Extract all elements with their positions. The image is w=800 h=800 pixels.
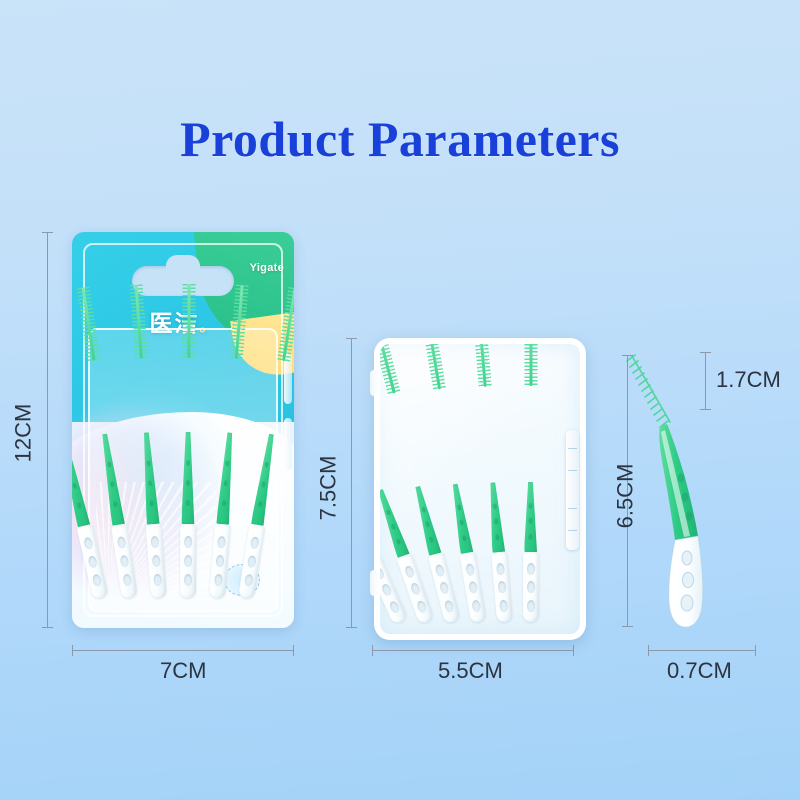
brush-handle-hole	[468, 581, 478, 594]
brush-handle-hole	[439, 582, 450, 596]
blister-height-line	[47, 232, 48, 628]
brush-white-handle	[459, 552, 486, 624]
brush-bristle-tip	[134, 285, 142, 359]
brush-body-hole	[429, 536, 434, 543]
storage-case-image	[374, 338, 586, 640]
interdental-brush	[524, 386, 537, 622]
brush-handle-hole	[83, 537, 93, 550]
brush-bristle-tip	[475, 338, 486, 387]
brush-handle-hole	[471, 599, 481, 612]
brush-tip-line	[705, 352, 706, 410]
single-brush-handle-hole-3	[681, 595, 693, 611]
brush-handle-hole	[122, 574, 132, 587]
brush-body-hole	[264, 461, 269, 468]
brush-handle-hole	[87, 555, 97, 568]
single-brush-handle-hole-2	[682, 572, 693, 587]
blister-height-label: 12CM	[10, 404, 36, 463]
case-height-line	[351, 338, 352, 628]
single-brush-body-hole-3	[686, 511, 693, 521]
brush-handle-hole	[213, 574, 222, 587]
blister-width-label: 7CM	[160, 658, 206, 684]
page-title: Product Parameters	[0, 110, 800, 168]
brush-body-hole	[462, 535, 467, 542]
brush-handle-hole	[499, 599, 508, 612]
brush-body-hole	[261, 481, 266, 488]
brand-label-yigate: Yigate	[250, 262, 284, 274]
brush-body-hole	[421, 506, 426, 513]
brush-body-hole	[396, 538, 402, 545]
brush-white-handle	[491, 552, 513, 623]
brush-body-hole	[493, 503, 497, 509]
single-brush-body-hole-2	[682, 492, 689, 502]
brush-body-hole	[224, 480, 228, 486]
brush-handle-hole	[116, 536, 126, 549]
brush-body-hole	[529, 534, 533, 540]
case-width-label: 5.5CM	[438, 658, 503, 684]
brush-handle-hole	[527, 581, 535, 593]
brush-body-hole	[149, 500, 153, 506]
brush-bristle-tip	[529, 338, 532, 386]
brush-body-hole	[77, 502, 82, 509]
single-brush-bristle-tip	[627, 355, 670, 427]
brush-body-hole	[494, 519, 498, 525]
brush-handle-hole	[217, 536, 226, 549]
brush-body-hole	[113, 501, 118, 508]
brush-body-hole	[107, 461, 112, 468]
brush-body-hole	[146, 460, 150, 466]
brush-handle-hole	[380, 583, 392, 597]
brush-handle-hole	[151, 555, 160, 568]
brush-body-hole	[222, 500, 226, 506]
brush-handle-hole	[443, 599, 454, 613]
single-brush-handle-hole-1	[682, 551, 692, 565]
brush-handle-hole	[388, 600, 400, 614]
brush-body-hole	[459, 520, 464, 527]
brush-bristle-tip	[234, 285, 243, 359]
case-hinge-top	[370, 370, 379, 396]
brush-tip-label: 1.7CM	[716, 367, 781, 393]
brush-green-body	[374, 491, 378, 560]
case-height-label: 7.5CM	[315, 456, 341, 521]
brush-white-handle	[180, 524, 196, 598]
case-clasp	[566, 430, 579, 550]
brush-body-hole	[391, 523, 397, 530]
brush-body-hole	[495, 534, 499, 540]
brush-handle-hole	[465, 563, 475, 576]
brush-body-hole	[529, 503, 533, 509]
brush-body-hole	[385, 509, 391, 516]
case-hinge-bottom	[370, 570, 379, 596]
brush-handle-hole	[249, 536, 259, 549]
blister-width-line	[72, 650, 294, 651]
interdental-brush	[181, 358, 195, 598]
brush-handle-hole	[434, 564, 445, 578]
brush-body-hole	[225, 460, 229, 466]
brush-body-hole	[529, 518, 533, 524]
brush-handle-hole	[243, 574, 253, 587]
brush-length-label: 6.5CM	[612, 464, 638, 529]
brush-green-body	[524, 482, 537, 552]
brush-body-hole	[258, 501, 263, 508]
brush-white-handle	[523, 552, 539, 622]
brush-handle-hole	[409, 582, 421, 596]
brush-handle-hole	[184, 536, 192, 548]
brush-width-label: 0.7CM	[667, 658, 732, 684]
brush-body-hole	[425, 521, 430, 528]
brush-body-hole	[186, 460, 190, 466]
brush-body-hole	[457, 504, 462, 511]
brush-handle-hole	[119, 555, 129, 568]
brush-handle-hole	[415, 600, 427, 614]
brush-width-line	[648, 650, 756, 651]
brush-handle-hole	[215, 555, 224, 568]
brush-body-hole	[72, 463, 73, 470]
brush-body-hole	[148, 480, 152, 486]
brush-handle-hole	[184, 574, 192, 586]
brush-body-hole	[110, 481, 115, 488]
brush-handle-hole	[496, 563, 505, 576]
brush-handle-hole	[153, 574, 162, 587]
brush-handle-hole	[527, 600, 535, 612]
blister-notch-bottom	[284, 418, 292, 470]
brush-handle-hole	[246, 555, 256, 568]
brush-body-hole	[186, 500, 190, 506]
brush-handle-hole	[527, 563, 535, 575]
single-brush-body-hole-1	[678, 473, 684, 482]
product-parameters-infographic: Product Parameters Yigate 医洁。 12CM 7CM	[0, 0, 800, 800]
brush-green-body	[181, 432, 194, 524]
brush-handle-hole	[403, 565, 415, 579]
case-width-line	[372, 650, 574, 651]
blister-pack-image: Yigate 医洁。	[72, 232, 294, 628]
brush-handle-hole	[497, 581, 506, 594]
brush-handle-hole	[184, 555, 192, 567]
brush-body-hole	[186, 480, 190, 486]
brush-bristle-tip	[187, 284, 190, 358]
brush-handle-hole	[150, 536, 159, 549]
brush-body-hole	[72, 482, 77, 489]
brush-handle-hole	[91, 574, 101, 587]
